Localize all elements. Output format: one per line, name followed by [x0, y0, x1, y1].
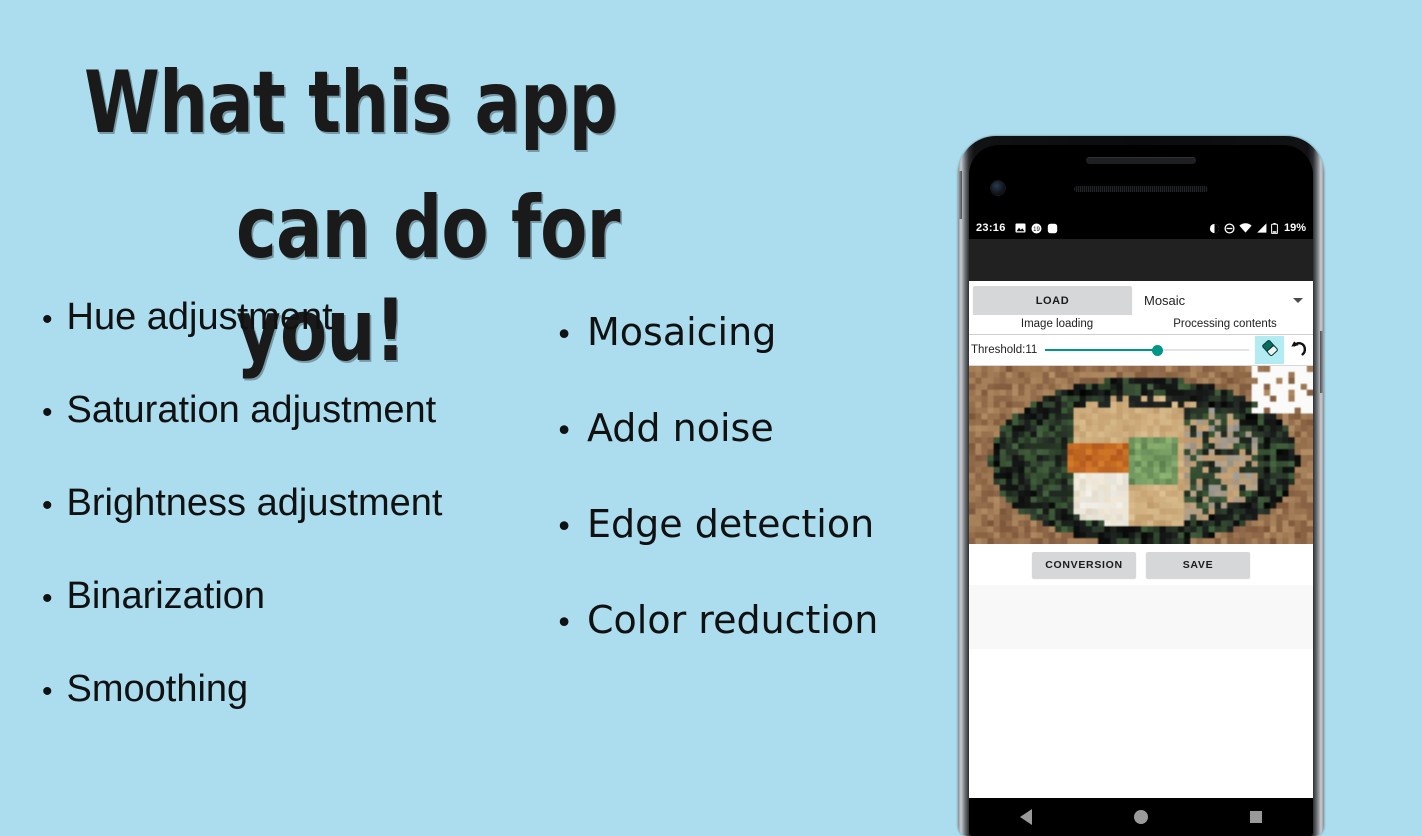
speaker-grille-icon — [1074, 186, 1208, 192]
bullet-icon: • — [555, 417, 573, 447]
mosaic-canvas — [969, 366, 1313, 544]
empty-panel-bottom — [969, 649, 1313, 798]
front-camera-icon — [991, 181, 1005, 195]
recents-square-icon[interactable] — [1250, 811, 1262, 823]
earpiece-icon — [1086, 157, 1196, 164]
cellular-signal-icon — [1256, 223, 1267, 233]
status-left-icons: 19 — [1015, 223, 1058, 234]
feature-column-left: • Hue adjustment • Saturation adjustment… — [0, 296, 545, 761]
bullet-icon: • — [555, 513, 573, 543]
label-processing-contents: Processing contents — [1141, 318, 1309, 330]
processing-select[interactable]: Mosaic — [1132, 286, 1309, 315]
badge-count-icon: 19 — [1031, 223, 1042, 234]
chevron-down-icon — [1293, 298, 1303, 303]
slider-fill — [1045, 349, 1157, 351]
feature-label: Edge detection — [587, 502, 874, 546]
phone-screen: 23:16 19 — [969, 217, 1313, 836]
undo-button[interactable] — [1284, 336, 1313, 364]
promo-panel: What this app can do for you! • Hue adju… — [0, 0, 950, 800]
conversion-button[interactable]: CONVERSION — [1032, 552, 1136, 578]
controls-row: LOAD Mosaic — [969, 281, 1313, 315]
list-item: • Edge detection — [555, 502, 950, 546]
bullet-icon: • — [555, 321, 573, 351]
do-not-disturb-icon — [1224, 223, 1235, 234]
list-item: • Smoothing — [42, 668, 545, 711]
home-circle-icon[interactable] — [1134, 810, 1148, 824]
status-right-icons: 19% — [1209, 222, 1306, 234]
preview-image[interactable] — [969, 366, 1313, 544]
feature-label: Color reduction — [587, 598, 878, 642]
feature-label: Saturation adjustment — [67, 389, 437, 432]
empty-panel-top — [969, 585, 1313, 649]
eraser-icon — [1260, 338, 1280, 363]
headline-line-1: What this app — [0, 52, 720, 155]
image-icon — [1015, 223, 1026, 233]
section-labels-row: Image loading Processing contents — [969, 315, 1313, 335]
phone-bezel: 23:16 19 — [969, 145, 1313, 836]
app-action-bar — [969, 239, 1313, 281]
list-item: • Color reduction — [555, 598, 950, 642]
battery-icon — [1271, 223, 1278, 234]
status-bar: 23:16 19 — [969, 217, 1313, 239]
brightness-contrast-icon — [1209, 223, 1220, 234]
bullet-icon: • — [42, 677, 53, 707]
list-item: • Hue adjustment — [42, 296, 545, 339]
feature-list: • Hue adjustment • Saturation adjustment… — [0, 296, 950, 761]
bullet-icon: • — [555, 609, 573, 639]
bullet-icon: • — [42, 584, 53, 614]
action-row: CONVERSION SAVE — [969, 544, 1313, 585]
phone-mockup: 23:16 19 — [958, 136, 1324, 836]
feature-label: Smoothing — [67, 668, 249, 711]
processing-select-value: Mosaic — [1144, 293, 1185, 308]
slider-thumb[interactable] — [1152, 345, 1163, 356]
list-item: • Add noise — [555, 406, 950, 450]
label-image-loading: Image loading — [973, 318, 1141, 330]
feature-column-right: • Mosaicing • Add noise • Edge detection… — [545, 296, 950, 761]
bullet-icon: • — [42, 398, 53, 428]
feature-label: Add noise — [587, 406, 774, 450]
app-notification-icon — [1047, 223, 1058, 234]
feature-label: Mosaicing — [587, 310, 776, 354]
volume-button[interactable] — [958, 171, 962, 219]
save-button[interactable]: SAVE — [1146, 552, 1250, 578]
bullet-icon: • — [42, 491, 53, 521]
list-item: • Saturation adjustment — [42, 389, 545, 432]
threshold-label: Threshold:11 — [971, 344, 1037, 356]
back-triangle-icon[interactable] — [1020, 809, 1032, 825]
power-button[interactable] — [1320, 331, 1324, 393]
wifi-icon — [1239, 223, 1252, 233]
list-item: • Binarization — [42, 575, 545, 618]
bullet-icon: • — [42, 305, 53, 335]
list-item: • Mosaicing — [555, 310, 950, 354]
svg-text:19: 19 — [1033, 227, 1040, 233]
undo-icon — [1289, 338, 1309, 363]
eraser-button[interactable] — [1255, 336, 1284, 364]
battery-percent: 19% — [1284, 222, 1306, 234]
app-content: LOAD Mosaic Image loading Processing con… — [969, 281, 1313, 798]
threshold-row: Threshold:11 — [969, 335, 1313, 366]
feature-label: Hue adjustment — [67, 296, 333, 339]
android-nav-bar — [969, 798, 1313, 836]
threshold-slider[interactable] — [1045, 335, 1249, 365]
load-button[interactable]: LOAD — [973, 286, 1132, 315]
feature-label: Brightness adjustment — [67, 482, 443, 525]
list-item: • Brightness adjustment — [42, 482, 545, 525]
status-clock: 23:16 — [976, 222, 1006, 234]
feature-label: Binarization — [67, 575, 266, 618]
